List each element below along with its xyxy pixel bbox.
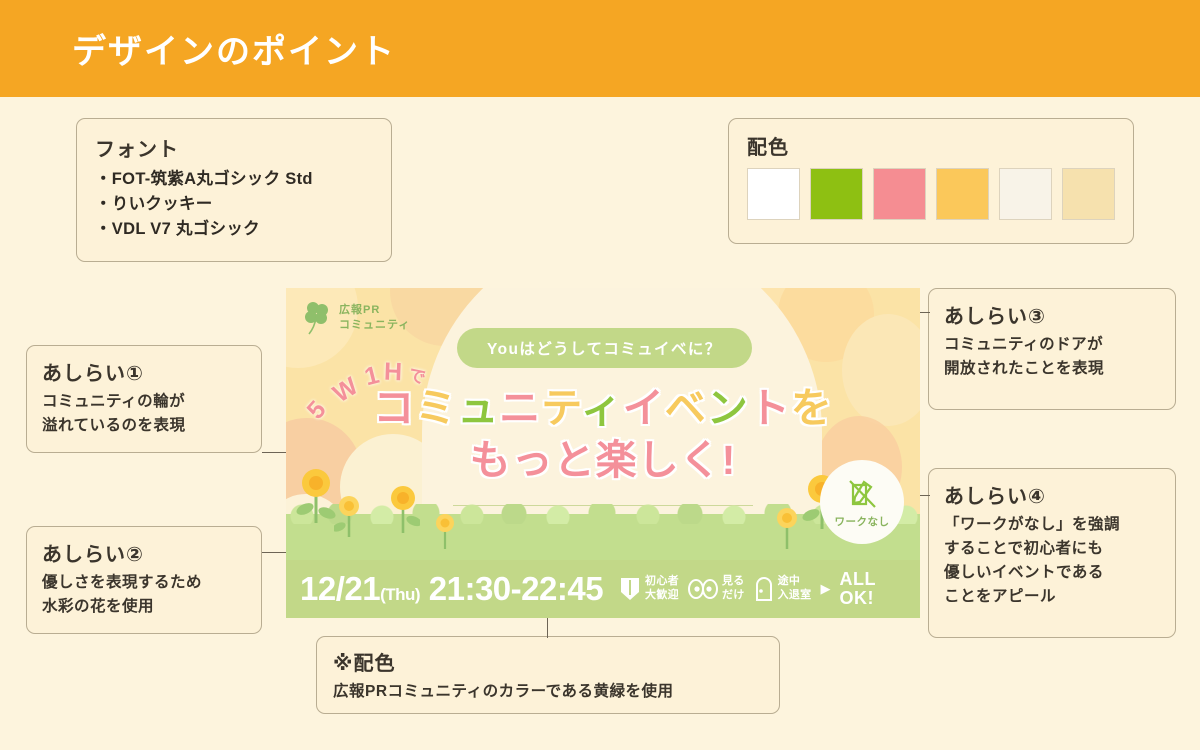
connector-line-2 (262, 552, 288, 553)
door-icon (754, 576, 774, 602)
feature-label-line: 初心者 (645, 575, 679, 589)
all-ok-text: ALL OK! (839, 570, 876, 608)
color-swatch-yellow-green (810, 168, 863, 220)
feature-beginner: 初心者 大歓迎 (619, 575, 679, 603)
annotation-card-palette-note: ※配色 広報PRコミュニティのカラーである黄緑を使用 (316, 636, 780, 714)
feature-label: 初心者 大歓迎 (645, 575, 679, 603)
color-swatch-off-white (999, 168, 1052, 220)
flower-icon (334, 495, 364, 544)
feature-label-line: 見る (722, 575, 745, 589)
headline-char: テ (541, 385, 581, 431)
annotation-line: 「ワークがなし」を強調 (944, 513, 1160, 537)
annotation-line: 水彩の花を使用 (42, 595, 246, 619)
feature-watch-only: 見る だけ (688, 575, 745, 603)
event-time: 21:30-22:45 (429, 570, 603, 607)
annotation-title: あしらい① (42, 357, 246, 386)
annotation-card-1: あしらい① コミュニティの輪が 溢れているのを表現 (26, 345, 262, 453)
logo-line1: 広報PR (339, 303, 410, 318)
connector-line-1 (262, 452, 288, 453)
palette-card-title: 配色 (747, 131, 1115, 160)
headline-char: ィ (581, 385, 623, 431)
annotation-line: コミュニティのドアが (944, 333, 1160, 357)
eyes-icon (688, 579, 718, 599)
no-worksheet-icon (844, 476, 880, 512)
community-logo: 広報PR コミュニティ (302, 300, 410, 336)
feature-free-entry: 途中 入退室 (754, 575, 812, 603)
color-swatch-white (747, 168, 800, 220)
annotation-title: あしらい② (42, 538, 246, 567)
annotation-line: することで初心者にも (944, 537, 1160, 561)
headline-char: ミ (415, 385, 457, 431)
no-work-badge-label: ワークなし (835, 514, 890, 529)
flower-icon (386, 485, 420, 540)
event-day-of-week: (Thu) (380, 585, 420, 604)
annotation-body: 広報PRコミュニティのカラーである黄緑を使用 (333, 680, 763, 704)
page-header: デザインのポイント (0, 0, 1200, 97)
annotation-line: 広報PRコミュニティのカラーである黄緑を使用 (333, 680, 763, 704)
annotation-line: 優しさを表現するため (42, 571, 246, 595)
flower-icon (432, 513, 458, 556)
feature-label-line: 途中 (778, 575, 812, 589)
font-list-item: ・りいクッキー (95, 192, 373, 217)
logo-text: 広報PR コミュニティ (339, 303, 410, 333)
headline-char: を (791, 385, 833, 431)
logo-line2: コミュニティ (339, 318, 410, 333)
clover-icon (302, 300, 332, 336)
feature-label-line: 大歓迎 (645, 589, 679, 603)
feature-label-line: 入退室 (778, 589, 812, 603)
color-swatch-golden (936, 168, 989, 220)
no-work-badge: ワークなし (820, 460, 904, 544)
event-feature-list: 初心者 大歓迎 見る だけ (619, 570, 876, 608)
font-card: フォント ・FOT-筑紫A丸ゴシック Std ・りいクッキー ・VDL V7 丸… (76, 118, 392, 262)
palette-card: 配色 (728, 118, 1134, 244)
annotation-body: コミュニティの輪が 溢れているのを表現 (42, 390, 246, 438)
color-swatch-pink (873, 168, 926, 220)
color-swatch-cream (1062, 168, 1115, 220)
arrow-right-icon: ▶ (820, 581, 830, 597)
annotation-title: ※配色 (333, 647, 763, 676)
flower-icon (296, 467, 336, 530)
page-title: デザインのポイント (72, 24, 396, 73)
annotation-body: 「ワークがなし」を強調 することで初心者にも 優しいイベントである ことをアピー… (944, 513, 1160, 609)
banner-headline: コミュニティイベントを もっと楽しく! (286, 386, 920, 483)
font-list: ・FOT-筑紫A丸ゴシック Std ・りいクッキー ・VDL V7 丸ゴシック (95, 167, 373, 242)
annotation-card-3: あしらい③ コミュニティのドアが 開放されたことを表現 (928, 288, 1176, 410)
headline-char: ュ (457, 385, 499, 431)
annotation-line: 開放されたことを表現 (944, 357, 1160, 381)
annotation-line: 溢れているのを表現 (42, 414, 246, 438)
event-banner-artwork: 広報PR コミュニティ 5 W 1 H で Youはどうしてコミュイベに？ コミ… (286, 288, 920, 618)
event-date-bar: 12/21(Thu) 21:30-22:45 初心者 大歓迎 (286, 560, 920, 618)
font-card-title: フォント (95, 133, 373, 162)
feature-label-line: だけ (722, 589, 745, 603)
annotation-card-4: あしらい④ 「ワークがなし」を強調 することで初心者にも 優しいイベントである … (928, 468, 1176, 638)
headline-line-1: コミュニティイベントを (286, 386, 920, 430)
all-ok-line: OK! (839, 589, 876, 608)
headline-char: ニ (499, 385, 541, 431)
annotation-line: ことをアピール (944, 585, 1160, 609)
headline-char: イ (623, 385, 665, 431)
headline-char: ン (707, 385, 749, 431)
font-list-item: ・VDL V7 丸ゴシック (95, 217, 373, 242)
tagline-pill-badge: Youはどうしてコミュイベに？ (457, 328, 752, 368)
annotation-line: 優しいイベントである (944, 561, 1160, 585)
annotation-title: あしらい④ (944, 480, 1160, 509)
color-swatch-list (747, 168, 1115, 220)
headline-char: ベ (665, 385, 707, 431)
headline-char: ト (749, 385, 791, 431)
annotation-line: コミュニティの輪が (42, 390, 246, 414)
annotation-body: コミュニティのドアが 開放されたことを表現 (944, 333, 1160, 381)
flower-icon (772, 507, 802, 556)
beginner-badge-icon (619, 576, 641, 602)
annotation-body: 優しさを表現するため 水彩の花を使用 (42, 571, 246, 619)
event-datetime: 12/21(Thu) 21:30-22:45 (300, 570, 603, 608)
feature-label: 途中 入退室 (778, 575, 812, 603)
annotation-title: あしらい③ (944, 300, 1160, 329)
feature-label: 見る だけ (722, 575, 745, 603)
event-day: 12/21 (300, 570, 380, 607)
headline-char: コ (373, 385, 415, 431)
font-list-item: ・FOT-筑紫A丸ゴシック Std (95, 167, 373, 192)
annotation-card-2: あしらい② 優しさを表現するため 水彩の花を使用 (26, 526, 262, 634)
all-ok-line: ALL (839, 570, 876, 589)
